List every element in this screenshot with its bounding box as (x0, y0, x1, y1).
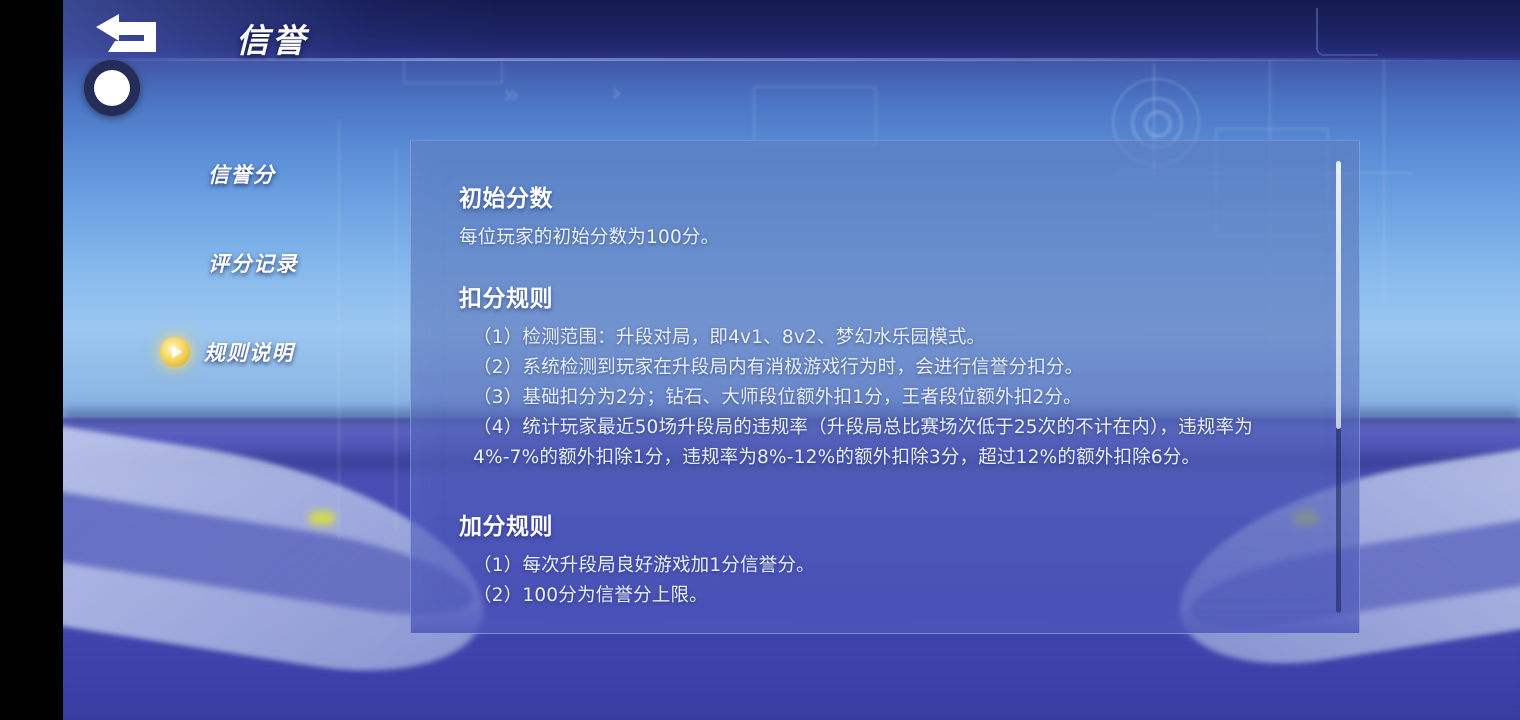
section-line: （2）100分为信誉分上限。 (459, 581, 1311, 611)
section-title: 初始分数 (459, 179, 1311, 213)
rules-section-initial-score: 初始分数 每位玩家的初始分数为100分。 (459, 179, 1311, 253)
sidebar-item-credit-score[interactable]: 信誉分 (208, 154, 276, 194)
rules-section-bonus: 加分规则 （1）每次升段局良好游戏加1分信誉分。 （2）100分为信誉分上限。 (459, 507, 1311, 611)
sidebar-item-score-records[interactable]: 评分记录 (208, 243, 298, 283)
rules-content: 初始分数 每位玩家的初始分数为100分。 扣分规则 （1）检测范围：升段对局，即… (411, 141, 1359, 633)
rules-section-deduction: 扣分规则 （1）检测范围：升段对局，即4v1、8v2、梦幻水乐园模式。 （2）系… (459, 279, 1311, 473)
section-title: 扣分规则 (459, 279, 1311, 313)
scrollbar-track[interactable] (1336, 161, 1341, 613)
section-title: 加分规则 (459, 507, 1311, 541)
letterbox-left (0, 0, 63, 720)
section-line: （4）统计玩家最近50场升段局的违规率（升段局总比赛场次低于25次的不计在内），… (459, 413, 1311, 473)
hud-box-2 (753, 86, 877, 146)
hud-chevron-icon-1: » (503, 80, 523, 110)
section-line: （3）基础扣分为2分；钻石、大师段位额外扣1分，王者段位额外扣2分。 (459, 383, 1311, 413)
sidebar-item-label: 规则说明 (204, 337, 294, 367)
header-bracket-decoration (1316, 8, 1378, 56)
rules-panel: 初始分数 每位玩家的初始分数为100分。 扣分规则 （1）检测范围：升段对局，即… (410, 140, 1360, 634)
track-light-left (309, 511, 335, 525)
hud-line-vertical-4 (395, 150, 397, 530)
sidebar-item-label: 评分记录 (208, 248, 298, 278)
section-line: （2）系统检测到玩家在升段局内有消极游戏行为时，会进行信誉分扣分。 (459, 353, 1311, 383)
game-screen: » › 信誉 信誉分 评分记录 规则说明 初始分数 每 (0, 0, 1520, 720)
hud-chevron-icon-2: › (611, 78, 625, 108)
section-line: （1）检测范围：升段对局，即4v1、8v2、梦幻水乐园模式。 (459, 323, 1311, 353)
hud-line-vertical-2 (1383, 52, 1385, 302)
section-line: （1）每次升段局良好游戏加1分信誉分。 (459, 551, 1311, 581)
page-title: 信誉 (236, 14, 308, 62)
sidebar-item-rules[interactable]: 规则说明 (160, 332, 294, 372)
home-dot-icon[interactable] (84, 60, 140, 116)
sidebar-item-label: 信誉分 (208, 159, 276, 189)
scrollbar-thumb[interactable] (1336, 161, 1341, 429)
hud-target-ring-inner (1144, 110, 1172, 138)
sidebar-nav: 信誉分 评分记录 规则说明 (140, 140, 390, 440)
play-circle-icon (160, 337, 190, 367)
back-arrow-icon[interactable] (86, 10, 178, 58)
section-line: 每位玩家的初始分数为100分。 (459, 223, 1311, 253)
